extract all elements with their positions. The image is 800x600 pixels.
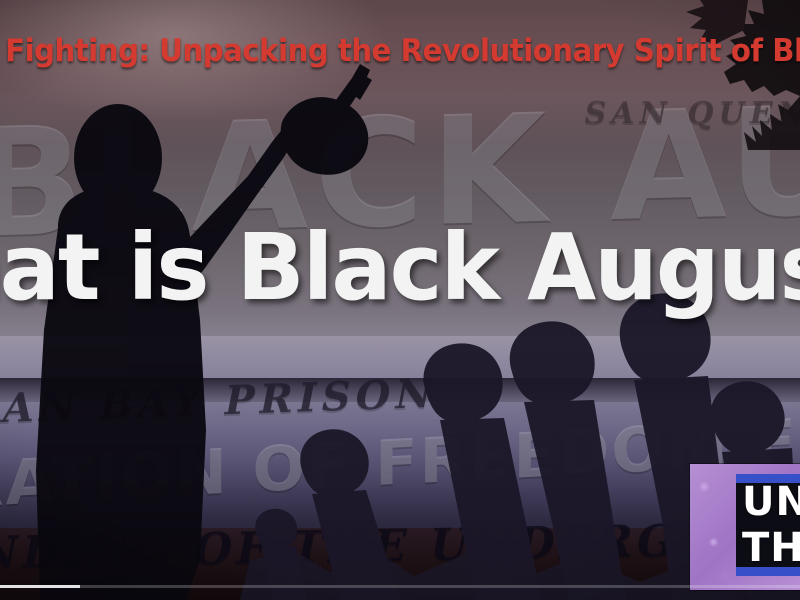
logo-line-two: TH	[742, 527, 800, 569]
video-progress-fill	[0, 585, 80, 588]
channel-logo-badge[interactable]: UNB TH	[690, 464, 800, 590]
bottom-floor-background	[0, 528, 800, 600]
dark-strip-background	[0, 378, 800, 402]
logo-wordmark: UNB TH	[736, 474, 800, 576]
video-progress-bar[interactable]	[0, 585, 800, 588]
logo-line-one: UNB	[742, 481, 800, 523]
video-frame: BLACK AUGUST SAN QUEN CAN BAY PRISON RAT…	[0, 0, 800, 600]
